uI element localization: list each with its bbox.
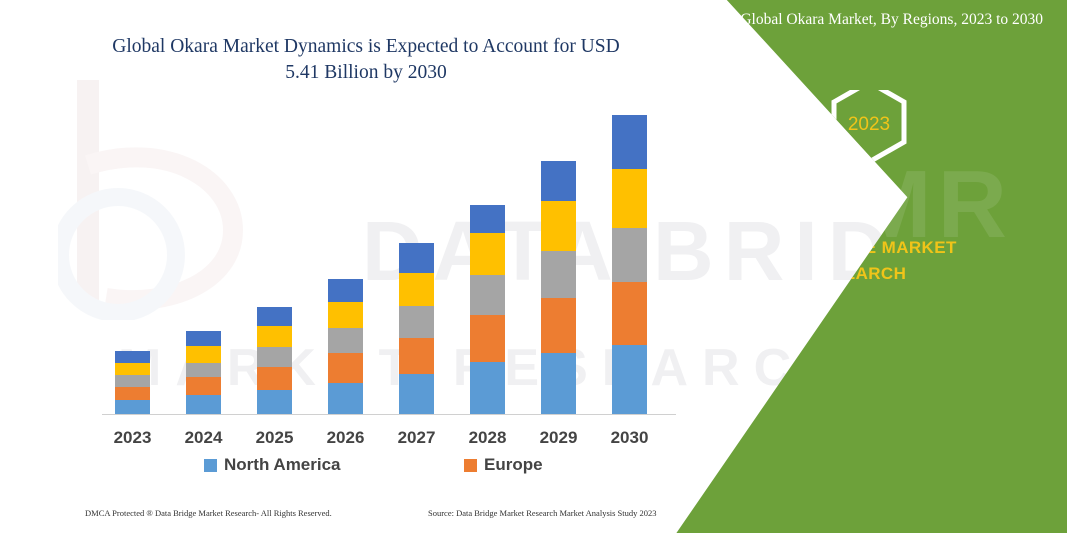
bar-segment-asia-pacific-2026[interactable] xyxy=(328,328,363,353)
chart-plot-area xyxy=(84,100,684,416)
bar-column-2030[interactable] xyxy=(612,115,647,414)
footer: DMCA Protected ® Data Bridge Market Rese… xyxy=(0,508,700,528)
bar-segment-asia-pacific-2029[interactable] xyxy=(541,251,576,298)
bar-segment-asia-pacific-2027[interactable] xyxy=(399,306,434,337)
bar-segment-middle-east-and-africa-2023[interactable] xyxy=(115,351,150,363)
panel-brand: DATA BRIDGE MARKET RESEARCH xyxy=(647,235,1067,287)
bar-segment-north-america-2025[interactable] xyxy=(257,390,292,414)
legend-item-europe[interactable]: Europe xyxy=(464,455,543,475)
x-tick-2025: 2025 xyxy=(240,428,310,448)
x-tick-2029: 2029 xyxy=(524,428,594,448)
bar-segment-north-america-2026[interactable] xyxy=(328,383,363,414)
panel-brand-line-2: RESEARCH xyxy=(808,264,907,283)
bar-column-2029[interactable] xyxy=(541,161,576,414)
stacked-bars xyxy=(84,100,684,414)
x-tick-2024: 2024 xyxy=(169,428,239,448)
bar-column-2026[interactable] xyxy=(328,279,363,414)
bar-segment-middle-east-and-africa-2025[interactable] xyxy=(257,307,292,326)
footer-copyright: DMCA Protected ® Data Bridge Market Rese… xyxy=(85,508,332,518)
bar-segment-europe-2026[interactable] xyxy=(328,353,363,382)
hexagon-2030-label: 2030 xyxy=(791,147,833,168)
bar-segment-north-america-2027[interactable] xyxy=(399,374,434,414)
bar-segment-europe-2030[interactable] xyxy=(612,282,647,345)
bar-segment-europe-2027[interactable] xyxy=(399,338,434,375)
bar-segment-europe-2029[interactable] xyxy=(541,298,576,353)
bar-segment-asia-pacific-2030[interactable] xyxy=(612,228,647,282)
x-tick-2026: 2026 xyxy=(311,428,381,448)
footer-source: Source: Data Bridge Market Research Mark… xyxy=(428,508,657,518)
legend-item-north-america[interactable]: North America xyxy=(204,455,341,475)
bar-column-2027[interactable] xyxy=(399,243,434,414)
bar-segment-europe-2024[interactable] xyxy=(186,377,221,395)
bar-segment-south-america-2024[interactable] xyxy=(186,346,221,363)
legend-label: North America xyxy=(224,455,341,475)
bar-segment-north-america-2030[interactable] xyxy=(612,345,647,414)
regions-panel: DBMR Global Okara Market, By Regions, 20… xyxy=(647,0,1067,533)
bar-segment-south-america-2027[interactable] xyxy=(399,273,434,306)
bar-segment-europe-2023[interactable] xyxy=(115,387,150,401)
x-axis-line xyxy=(102,414,676,415)
legend-swatch-icon xyxy=(204,459,217,472)
x-tick-2028: 2028 xyxy=(453,428,523,448)
bar-segment-north-america-2028[interactable] xyxy=(470,362,505,414)
legend-label: Europe xyxy=(484,455,543,475)
bar-segment-south-america-2025[interactable] xyxy=(257,326,292,347)
infographic-canvas: DATA BRIDGE MARKET RESEARCH Global Okara… xyxy=(0,0,1067,533)
bar-segment-south-america-2023[interactable] xyxy=(115,363,150,376)
bar-segment-asia-pacific-2025[interactable] xyxy=(257,347,292,367)
hexagon-2030 xyxy=(777,115,847,195)
bar-segment-middle-east-and-africa-2030[interactable] xyxy=(612,115,647,169)
chart-legend: North AmericaEurope xyxy=(84,455,684,479)
bar-column-2023[interactable] xyxy=(115,351,150,414)
bar-segment-asia-pacific-2024[interactable] xyxy=(186,363,221,378)
bar-segment-middle-east-and-africa-2024[interactable] xyxy=(186,331,221,346)
legend-swatch-icon xyxy=(464,459,477,472)
bar-segment-europe-2028[interactable] xyxy=(470,315,505,362)
bar-segment-north-america-2024[interactable] xyxy=(186,395,221,414)
bar-segment-europe-2025[interactable] xyxy=(257,367,292,390)
hexagon-2023-label: 2023 xyxy=(848,114,890,135)
bar-column-2024[interactable] xyxy=(186,331,221,414)
bar-segment-south-america-2028[interactable] xyxy=(470,233,505,275)
bar-segment-north-america-2023[interactable] xyxy=(115,400,150,414)
x-tick-2023: 2023 xyxy=(98,428,168,448)
bar-column-2025[interactable] xyxy=(257,307,292,414)
bar-segment-south-america-2026[interactable] xyxy=(328,302,363,328)
bar-segment-middle-east-and-africa-2026[interactable] xyxy=(328,279,363,302)
x-tick-2027: 2027 xyxy=(382,428,452,448)
x-tick-2030: 2030 xyxy=(595,428,665,448)
bar-segment-south-america-2029[interactable] xyxy=(541,201,576,251)
panel-title: Global Okara Market, By Regions, 2023 to… xyxy=(713,8,1043,31)
chart-title: Global Okara Market Dynamics is Expected… xyxy=(96,34,636,86)
panel-brand-line-1: DATA BRIDGE MARKET xyxy=(757,238,957,257)
bar-segment-middle-east-and-africa-2028[interactable] xyxy=(470,205,505,233)
hexagon-badges: 2030 2023 xyxy=(647,90,1067,220)
bar-segment-middle-east-and-africa-2029[interactable] xyxy=(541,161,576,201)
bar-segment-asia-pacific-2028[interactable] xyxy=(470,275,505,315)
bar-segment-south-america-2030[interactable] xyxy=(612,169,647,228)
bar-segment-asia-pacific-2023[interactable] xyxy=(115,375,150,387)
x-axis-tick-labels: 20232024202520262027202820292030 xyxy=(84,428,684,452)
bar-column-2028[interactable] xyxy=(470,205,505,414)
bar-segment-middle-east-and-africa-2027[interactable] xyxy=(399,243,434,272)
bar-segment-north-america-2029[interactable] xyxy=(541,353,576,414)
